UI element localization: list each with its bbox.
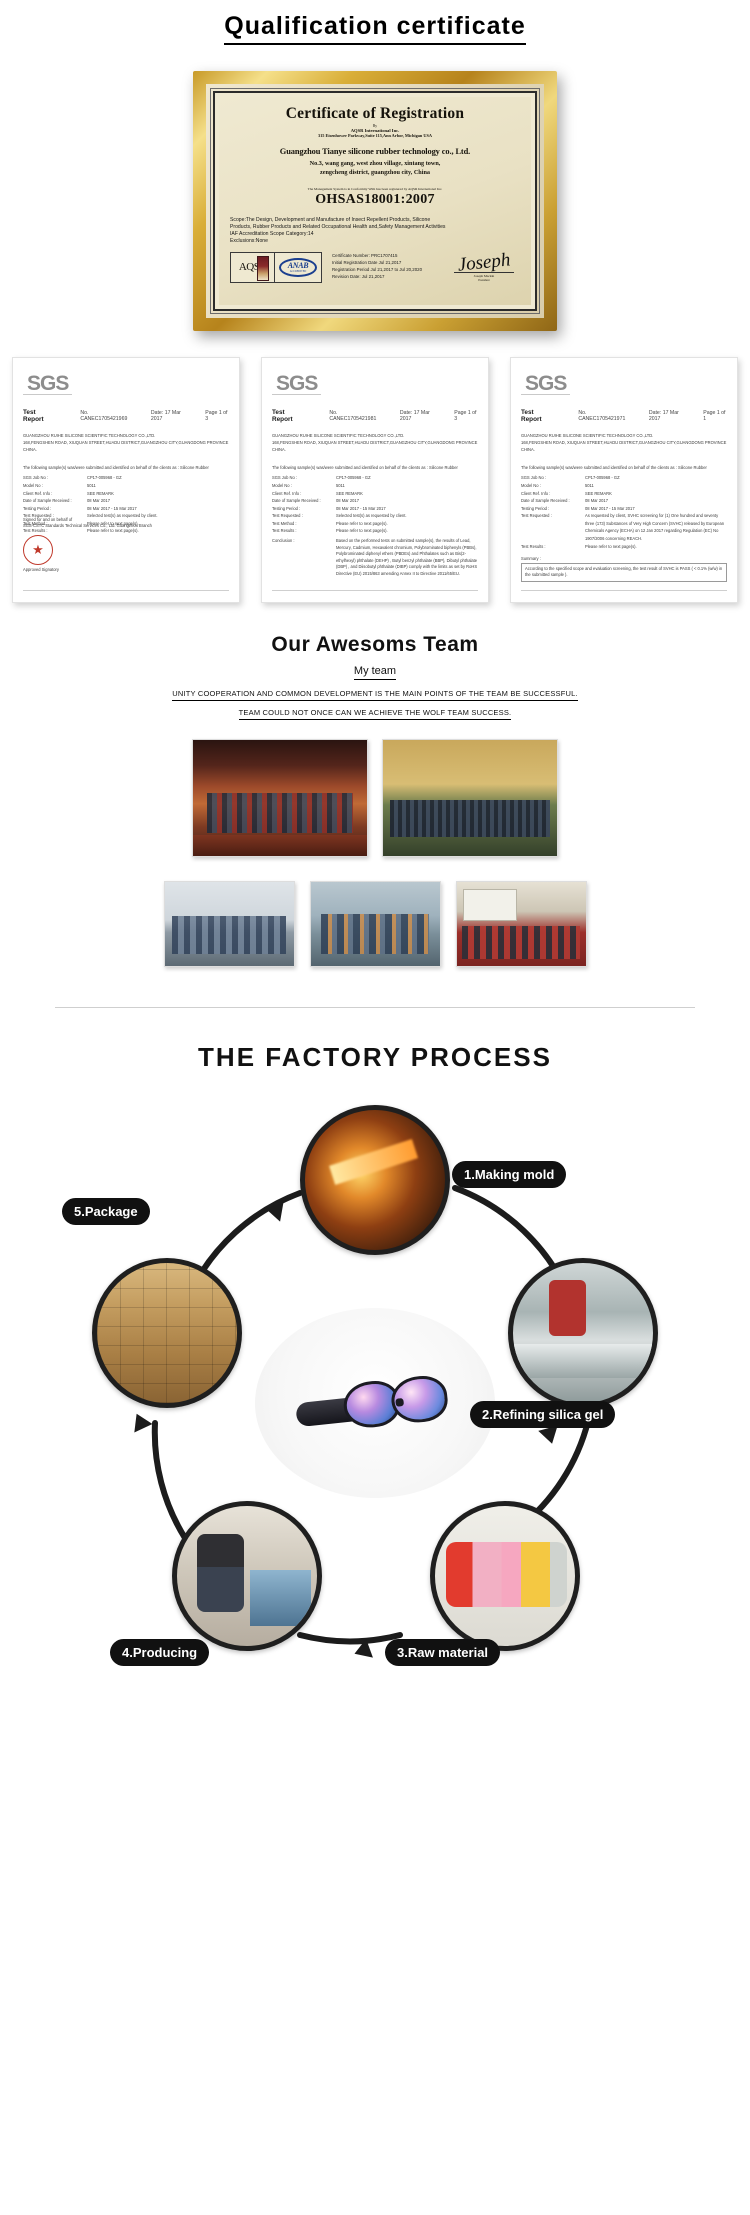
sgs-signoff-line-1: Signed for and on behalf of [23,517,229,522]
certificate-conformity-note: The Management System is in Conformity W… [230,187,520,191]
sgs-summary-label: Summary : [521,556,727,561]
certificate-meta-line: Initial Registration Date Jul 21,2017 [332,259,448,266]
factory-process-diagram: 1.Making mold 2.Refining silica gel 3.Ra… [0,1083,750,1758]
certificate-meta-line: Revision Date: Jul 21,2017 [332,273,448,280]
team-section-subtitle: My team [0,665,750,677]
page-title: Qualification certificate [0,0,750,41]
anab-logo-text: ANAB [288,262,309,270]
certificate-footer: AQSR ANAB ACCREDITED Certifi [230,252,520,283]
certificate-meta: Certificate Number: PRC1707415 Initial R… [332,252,448,280]
certificate-scope-line-1: Scope:The Design, Development and Manufa… [230,217,520,224]
sgs-field: Date of Sample Received :08 Mar 2017 [521,497,727,505]
sgs-field: Test Requested :As requested by client, … [521,512,727,542]
process-step-1-image [300,1105,450,1255]
sgs-report-header: Test Report No. CANEC1705421971 Date: 17… [521,409,727,423]
sgs-field: Model No :5011 [272,482,478,490]
team-photo-annual-party [192,739,368,857]
sgs-field-list: SGS Job No :CP17-005968 - GZ Model No :5… [521,474,727,550]
process-step-2-label: 2.Refining silica gel [470,1401,615,1428]
section-divider [55,1007,695,1008]
sgs-report-card: SGS Test Report No. CANEC1705421981 Date… [261,357,489,603]
certificate-company-address-1: No.3, wang gang, west zhou village, xint… [230,160,520,169]
sgs-field: SGS Job No :CP17-005968 - GZ [23,474,229,482]
team-section-title: Our Awesoms Team [0,633,750,657]
team-photos-top-row [0,739,750,857]
sgs-intro-text: The following sample(s) was/were submitt… [23,465,229,470]
team-photos-bottom-row [0,881,750,967]
certificate-scope-line-3: IAF Accreditation Scope Category:14 [230,231,520,238]
sgs-field: Model No :5011 [23,482,229,490]
sgs-footer-disclaimer [521,590,727,597]
sgs-report-card: SGS Test Report No. CANEC1705421971 Date… [510,357,738,603]
accreditation-logos: AQSR ANAB ACCREDITED [230,252,322,283]
sgs-conclusion-text: Based on the performed tests on submitte… [336,538,478,577]
sgs-report-page: Page 1 of 3 [205,410,229,422]
sgs-report-header: Test Report No. CANEC1705421969 Date: 17… [23,409,229,423]
certificate-image: Certificate of Registration By AQSR Inte… [193,71,557,331]
sgs-intro-text: The following sample(s) was/were submitt… [272,465,478,470]
sgs-field: Testing Period :08 Mar 2017 - 15 Mar 201… [23,505,229,513]
sgs-field: Test Results :Please refer to next page(… [521,543,727,551]
certificate-scope-line-2: Products, Rubber Products and Related Oc… [230,224,520,231]
sgs-report-card: SGS Test Report No. CANEC1705421969 Date… [12,357,240,603]
sgs-field: Client Ref. Info :SEE REMARK [272,490,478,498]
sgs-client-address: GUANGZHOU RUIHE SILICONE SCIENTIFIC TECH… [23,432,229,453]
certificate-paper: Certificate of Registration By AQSR Inte… [219,97,531,305]
process-step-3-image [430,1501,580,1651]
sgs-field: SGS Job No :CP17-005968 - GZ [521,474,727,482]
aqsr-logo-icon: AQSR [231,253,275,282]
sgs-report-date: Date: 17 Mar 2017 [649,410,687,422]
sgs-report-number: No. CANEC1705421971 [578,410,629,422]
process-step-2-image [508,1258,658,1408]
sgs-footer-disclaimer [272,590,478,597]
sgs-signoff-line-2: SGS-CSTC Standards Technical Services Co… [23,523,229,528]
certificate-standard: OHSAS18001:2007 [230,192,520,208]
sgs-field: Date of Sample Received :08 Mar 2017 [23,497,229,505]
eagle-icon [257,256,269,281]
sgs-report-date: Date: 17 Mar 2017 [400,410,438,422]
certificate-inner-border: Certificate of Registration By AQSR Inte… [213,91,537,311]
process-step-4-image [172,1501,322,1651]
team-tagline-2: TEAM COULD NOT ONCE CAN WE ACHIEVE THE W… [0,708,750,717]
sgs-conclusion: Conclusion : Based on the performed test… [272,538,478,577]
sgs-intro-text: The following sample(s) was/were submitt… [521,465,727,470]
sgs-field: Testing Period :08 Mar 2017 - 15 Mar 201… [521,505,727,513]
sgs-field: Date of Sample Received :08 Mar 2017 [272,497,478,505]
certificate-scope-line-4: Exclusions:None [230,238,520,245]
sgs-report-header: Test Report No. CANEC1705421981 Date: 17… [272,409,478,423]
process-step-1-label: 1.Making mold [452,1161,566,1188]
certificate-frame: Certificate of Registration By AQSR Inte… [193,71,557,331]
sgs-report-number: No. CANEC1705421969 [80,410,131,422]
sgs-report-title: Test Report [521,409,552,423]
sgs-field: SGS Job No :CP17-005968 - GZ [272,474,478,482]
process-step-5-label: 5.Package [62,1198,150,1225]
team-photo-office-group [164,881,295,967]
goggles-bridge [395,1398,404,1407]
certificate-company: Guangzhou Tianye silicone rubber technol… [230,147,520,156]
sgs-field: Testing Period :08 Mar 2017 - 15 Mar 201… [272,505,478,513]
sgs-report-title: Test Report [272,409,303,423]
anab-logo-icon: ANAB ACCREDITED [275,253,321,282]
swimming-goggles-icon [297,1371,452,1442]
certificate-mat: Certificate of Registration By AQSR Inte… [206,84,544,318]
sgs-reports-row: SGS Test Report No. CANEC1705421969 Date… [0,331,750,603]
sgs-logo-icon: SGS [272,372,321,396]
sgs-report-page: Page 1 of 1 [703,410,727,422]
team-tagline-1: UNITY COOPERATION AND COMMON DEVELOPMENT… [0,689,750,698]
sgs-report-title: Test Report [23,409,54,423]
sgs-client-address: GUANGZHOU RUIHE SILICONE SCIENTIFIC TECH… [272,432,478,453]
certificate-issuer-address: 315 Eisenhower Parkway,Suite 115,Ann Arb… [230,133,520,138]
certificate-company-address-2: zengcheng district, guangzhou city, Chin… [230,169,520,178]
sgs-report-page: Page 1 of 3 [454,410,478,422]
factory-process-title: THE FACTORY PROCESS [0,1042,750,1073]
sgs-signoff: Signed for and on behalf of SGS-CSTC Sta… [23,517,229,572]
signer-role: President [448,278,520,282]
red-stamp-icon: ★ [23,535,53,565]
team-photo-casual-group [310,881,441,967]
process-step-4-label: 4.Producing [110,1639,209,1666]
anab-logo-sub: ACCREDITED [290,270,306,273]
sgs-report-number: No. CANEC1705421981 [329,410,380,422]
process-step-3-label: 3.Raw material [385,1639,500,1666]
process-step-5-image [92,1258,242,1408]
certificate-scope: Scope:The Design, Development and Manufa… [230,217,520,245]
certificate-heading: Certificate of Registration [230,105,520,122]
certificate-signature-block: Joseph Joseph Mackin President [448,252,520,282]
sgs-summary-text: According to the specified scope and eva… [521,563,727,582]
sgs-field-list: SGS Job No :CP17-005968 - GZ Model No :5… [272,474,478,535]
team-photo-outdoor-group [382,739,558,857]
certificate-meta-line: Certificate Number: PRC1707415 [332,252,448,259]
sgs-client-address: GUANGZHOU RUIHE SILICONE SCIENTIFIC TECH… [521,432,727,453]
sgs-report-date: Date: 17 Mar 2017 [151,410,189,422]
sgs-field: Client Ref. Info :SEE REMARK [23,490,229,498]
sgs-field: Client Ref. Info :SEE REMARK [521,490,727,498]
sgs-signature-caption: Approved Signatory [23,567,229,572]
sgs-field: Test Requested :Selected test(s) as requ… [272,512,478,520]
team-photo-meeting-room [456,881,587,967]
sgs-field: Model No :5011 [521,482,727,490]
page-title-text: Qualification certificate [224,12,525,45]
sgs-conclusion-label: Conclusion : [272,538,336,577]
sgs-footer-disclaimer [23,590,229,597]
certificate-meta-line: Registration Period Jul 21,2017 to Jul 2… [332,266,448,273]
sgs-field: Test Method :Please refer to next page(s… [272,520,478,528]
sgs-field: Test Results :Please refer to next page(… [272,527,478,535]
sgs-logo-icon: SGS [521,372,570,396]
sgs-logo-icon: SGS [23,372,72,396]
center-product-image [255,1308,495,1498]
